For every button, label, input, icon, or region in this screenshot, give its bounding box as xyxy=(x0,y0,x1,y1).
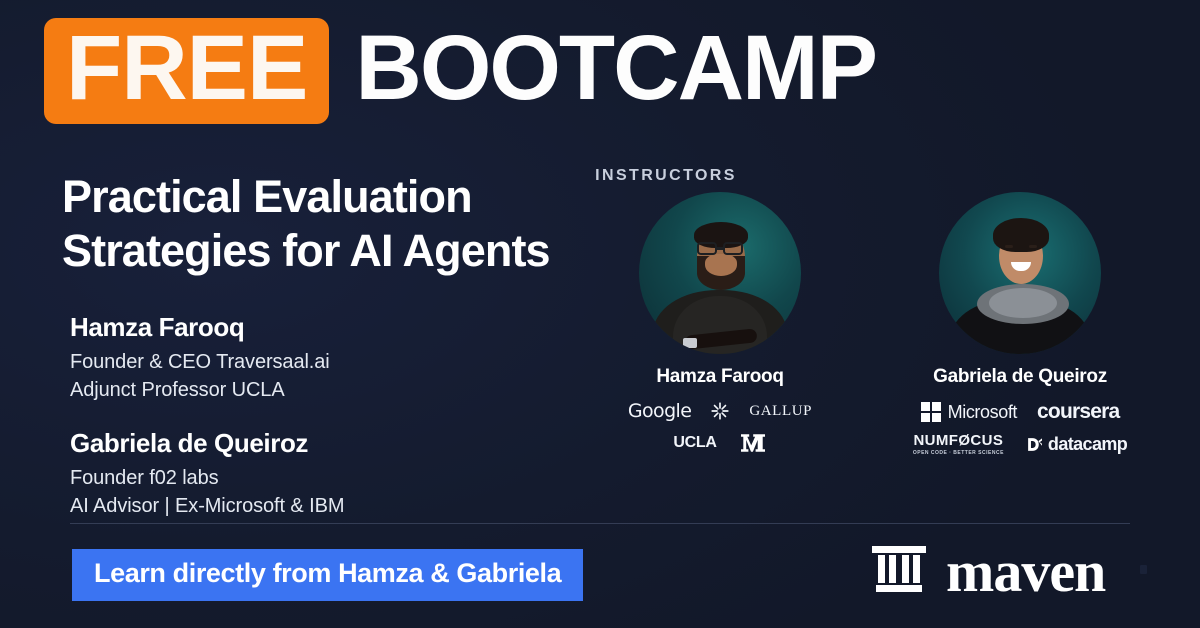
numfocus-logo-label: NUMFØCUS xyxy=(913,432,1003,449)
maven-wordmark: maven xyxy=(946,543,1105,601)
logo-row-secondary: NUMFØCUS OPEN CODE · BETTER SCIENCE data… xyxy=(890,433,1150,456)
microsoft-logo: Microsoft xyxy=(921,402,1017,423)
cta-button-label: Learn directly from Hamza & Gabriela xyxy=(94,558,561,588)
headline: FREE BOOTCAMP xyxy=(44,18,876,124)
bio-line-1: Founder & CEO Traversaal.ai xyxy=(70,348,330,376)
coursera-logo: coursera xyxy=(1037,400,1119,424)
bio-line-2: Adjunct Professor UCLA xyxy=(70,376,330,404)
logo-row-secondary: UCLA xyxy=(590,431,850,455)
logo-row-primary: Google GALLUP xyxy=(590,400,850,422)
portrait-glasses xyxy=(697,242,717,255)
bio-name: Hamza Farooq xyxy=(70,312,330,343)
headline-bootcamp: BOOTCAMP xyxy=(355,22,876,120)
gallup-logo: GALLUP xyxy=(749,403,812,420)
bio-gabriela-de-queiroz: Gabriela de Queiroz Founder f02 labs AI … xyxy=(70,428,344,521)
corner-mark xyxy=(1140,565,1147,574)
bio-hamza-farooq: Hamza Farooq Founder & CEO Traversaal.ai… xyxy=(70,312,330,405)
instructor-name: Hamza Farooq xyxy=(590,366,850,388)
free-badge-label: FREE xyxy=(66,17,307,119)
promo-poster: FREE BOOTCAMP Practical Evaluation Strat… xyxy=(0,0,1200,628)
bio-line-2: AI Advisor | Ex-Microsoft & IBM xyxy=(70,492,344,520)
bio-line-1: Founder f02 labs xyxy=(70,464,344,492)
instructors-label: INSTRUCTORS xyxy=(66,167,1200,185)
instructor-name: Gabriela de Queiroz xyxy=(890,366,1150,388)
cta-button[interactable]: Learn directly from Hamza & Gabriela xyxy=(72,549,583,601)
divider xyxy=(70,523,1130,524)
avatar xyxy=(939,192,1101,354)
free-badge: FREE xyxy=(44,18,329,124)
logo-row-primary: Microsoft coursera xyxy=(890,400,1150,424)
walmart-spark-icon xyxy=(711,402,729,420)
instructor-card-hamza-farooq: Hamza Farooq Google GALL xyxy=(590,192,850,455)
instructor-card-gabriela-de-queiroz: Gabriela de Queiroz Microsoft coursera N… xyxy=(890,192,1150,456)
university-of-minnesota-logo xyxy=(739,431,767,455)
google-logo: Google xyxy=(628,400,691,422)
maven-brand-logo: maven xyxy=(868,538,1105,605)
numfocus-tagline: OPEN CODE · BETTER SCIENCE xyxy=(913,451,1004,456)
portrait-glasses xyxy=(723,242,743,255)
page-title: Practical Evaluation Strategies for AI A… xyxy=(62,170,550,278)
microsoft-logo-label: Microsoft xyxy=(948,402,1017,423)
ucla-logo: UCLA xyxy=(673,434,716,452)
datacamp-logo: datacamp xyxy=(1026,434,1127,455)
course-title-line-2: Strategies for AI Agents xyxy=(62,224,550,278)
column-icon xyxy=(868,538,930,605)
bio-name: Gabriela de Queiroz xyxy=(70,428,344,459)
numfocus-logo: NUMFØCUS OPEN CODE · BETTER SCIENCE xyxy=(913,433,1004,456)
avatar xyxy=(639,192,801,354)
datacamp-logo-label: datacamp xyxy=(1048,434,1127,455)
microsoft-grid-icon xyxy=(921,402,941,422)
